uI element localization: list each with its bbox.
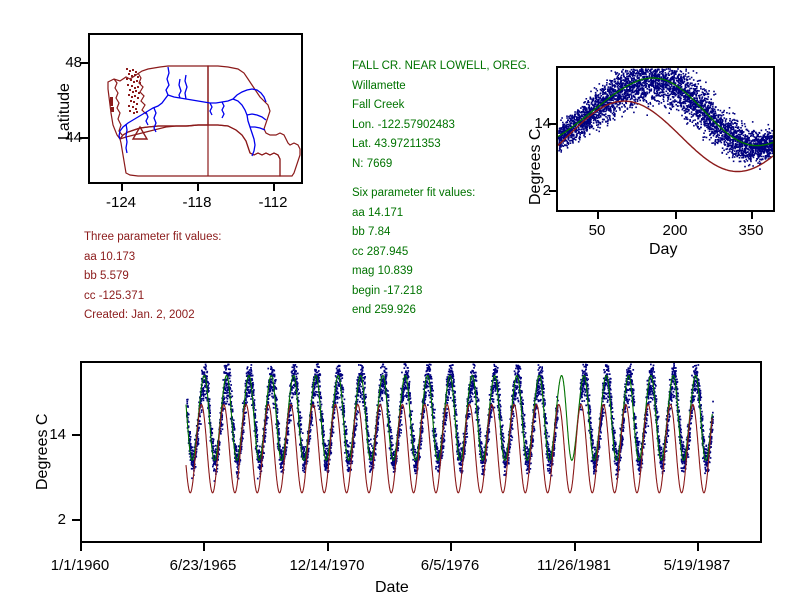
- six-param-begin: begin -17.218: [352, 282, 530, 302]
- timeseries-x-tick-6-23-1965: 6/23/1965: [153, 557, 253, 574]
- map-y-tick-44: 44: [60, 129, 82, 146]
- map-y-tick-mark-48: [80, 62, 88, 64]
- timeseries-x-axis-title: Date: [375, 579, 409, 597]
- timeseries-y-tick-14: 14: [44, 426, 66, 443]
- three-param-cc: cc -125.371: [84, 287, 221, 307]
- seasonal-x-tick-mark-350: [751, 212, 753, 219]
- timeseries-x-tick-mark-3: [450, 543, 452, 551]
- three-param-aa: aa 10.173: [84, 248, 221, 268]
- three-parameter-fit-text: Three parameter fit values: aa 10.173 bb…: [84, 228, 221, 326]
- map-x-tick-mark--124: [121, 184, 123, 191]
- timeseries-x-tick-12-14-1970: 12/14/1970: [277, 557, 377, 574]
- six-param-mag: mag 10.839: [352, 262, 530, 282]
- timeseries-x-tick-mark-4: [574, 543, 576, 551]
- seasonal-x-tick-350: 350: [726, 222, 776, 239]
- seasonal-plot-drawing: [558, 68, 773, 210]
- site-latitude: Lat. 43.97211353: [352, 135, 530, 155]
- six-param-bb: bb 7.84: [352, 223, 530, 243]
- timeseries-y-tick-mark-2: [72, 519, 80, 521]
- created-date: Created: Jan. 2, 2002: [84, 306, 221, 326]
- seasonal-y-tick-mark-2: [549, 190, 556, 192]
- timeseries-x-tick-mark-5: [697, 543, 699, 551]
- seasonal-x-tick-200: 200: [650, 222, 700, 239]
- timeseries-y-tick-2: 2: [44, 511, 66, 528]
- map-y-tick-48: 48: [60, 54, 82, 71]
- map-x-tick--118: -118: [167, 194, 227, 211]
- six-param-aa: aa 14.171: [352, 204, 530, 224]
- site-stream: Fall Creek: [352, 96, 530, 116]
- map-x-tick--112: -112: [243, 194, 303, 211]
- timeseries-y-tick-mark-14: [72, 434, 80, 436]
- seasonal-x-tick-mark-200: [675, 212, 677, 219]
- seasonal-x-axis-title: Day: [649, 241, 677, 259]
- time-series-panel: Degrees C 14 2 1/1/1960 6/23/1965 12/14/…: [0, 345, 792, 611]
- site-observation-count: N: 7669: [352, 155, 530, 175]
- seasonal-y-tick-2: 2: [529, 182, 551, 199]
- map-y-tick-mark-44: [80, 137, 88, 139]
- timeseries-plot-drawing: [82, 363, 760, 541]
- timeseries-y-axis-title: Degrees C: [34, 414, 52, 490]
- seasonal-cycle-panel: Degrees C 14 2 50 200 350 Day: [505, 55, 792, 265]
- three-param-bb: bb 5.579: [84, 267, 221, 287]
- site-longitude: Lon. -122.57902483: [352, 116, 530, 136]
- text-spacer: [352, 174, 530, 184]
- timeseries-x-tick-mark-0: [80, 543, 82, 551]
- seasonal-x-tick-50: 50: [572, 222, 622, 239]
- timeseries-x-tick-mark-2: [327, 543, 329, 551]
- six-param-heading: Six parameter fit values:: [352, 184, 530, 204]
- site-info-text: FALL CR. NEAR LOWELL, OREG. Willamette F…: [352, 57, 530, 321]
- seasonal-y-tick-14: 14: [529, 115, 551, 132]
- timeseries-x-tick-mark-1: [203, 543, 205, 551]
- seasonal-x-tick-mark-50: [597, 212, 599, 219]
- map-drawing: [90, 35, 305, 186]
- six-param-cc: cc 287.945: [352, 243, 530, 263]
- three-param-heading: Three parameter fit values:: [84, 228, 221, 248]
- site-title: FALL CR. NEAR LOWELL, OREG.: [352, 57, 530, 77]
- seasonal-y-tick-mark-14: [549, 123, 556, 125]
- timeseries-x-tick-6-5-1976: 6/5/1976: [400, 557, 500, 574]
- timeseries-x-tick-5-19-1987: 5/19/1987: [647, 557, 747, 574]
- six-param-end: end 259.926: [352, 301, 530, 321]
- timeseries-x-tick-1-1-1960: 1/1/1960: [30, 557, 130, 574]
- timeseries-x-tick-11-26-1981: 11/26/1981: [524, 557, 624, 574]
- map-x-tick-mark--118: [197, 184, 199, 191]
- map-x-tick-mark--112: [273, 184, 275, 191]
- map-panel: Latitude 48 44: [0, 0, 320, 225]
- site-basin: Willamette: [352, 77, 530, 97]
- map-x-tick--124: -124: [91, 194, 151, 211]
